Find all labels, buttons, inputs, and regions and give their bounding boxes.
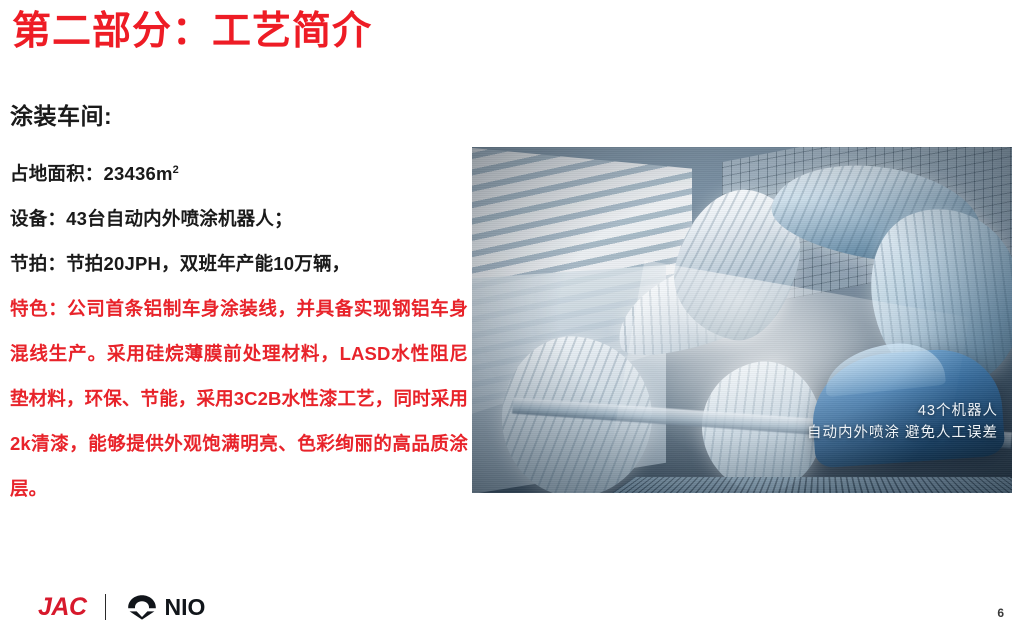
page-title: 第二部分：工艺简介: [12, 6, 372, 58]
paint-shop-photo: 43个机器人 自动内外喷涂 避免人工误差: [472, 147, 1012, 493]
spec-line-area: 占地面积：23436m2: [10, 148, 470, 196]
photo-caption-line-2: 自动内外喷涂 避免人工误差: [807, 422, 998, 444]
body-text-block: 占地面积：23436m2 设备：43台自动内外喷涂机器人； 节拍：节拍20JPH…: [10, 148, 470, 511]
spec-paragraph-features: 特色：公司首条铝制车身涂装线，并具备实现钢铝车身混线生产。采用硅烷薄膜前处理材料…: [10, 286, 468, 511]
photo-caption-line-1: 43个机器人: [807, 400, 998, 422]
nio-mark-icon: [126, 594, 158, 620]
section-heading: 涂装车间:: [10, 97, 112, 131]
nio-wordmark: NIO: [165, 595, 206, 619]
spec-line-equipment: 设备：43台自动内外喷涂机器人；: [10, 196, 470, 241]
nio-logo: NIO: [126, 594, 206, 620]
spec-area-unit: m: [156, 163, 173, 184]
jac-logo: JAC: [38, 594, 87, 620]
logo-divider: [105, 594, 106, 620]
spec-line-takt: 节拍：节拍20JPH，双班年产能10万辆，: [10, 241, 470, 286]
conveyor-grating: [592, 477, 1012, 493]
spec-area-unit-exponent: 2: [173, 164, 179, 176]
spec-area-value: 23436: [104, 163, 156, 184]
photo-caption: 43个机器人 自动内外喷涂 避免人工误差: [807, 400, 998, 444]
page-number: 6: [997, 606, 1004, 620]
spec-area-label: 占地面积：: [10, 163, 104, 184]
footer-logo-lockup: JAC NIO: [38, 592, 205, 622]
